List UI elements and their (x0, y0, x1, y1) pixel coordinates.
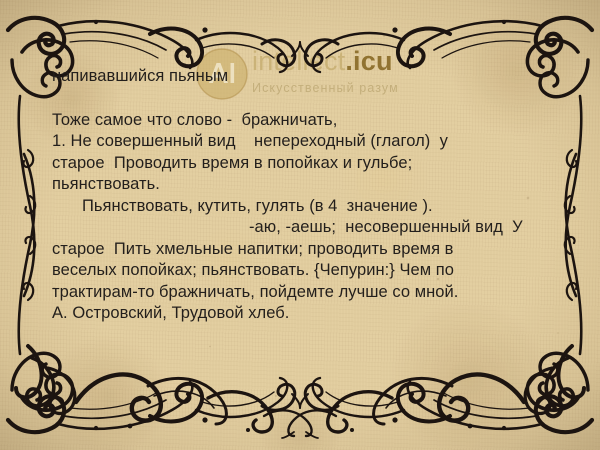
entry-line: трактирам-то бражничать, пойдемте лучше … (52, 282, 530, 304)
entry-line: А. Островский, Трудовой хлеб. (52, 303, 530, 325)
entry-line: -аю, -аешь; несовершенный вид У (52, 217, 530, 239)
parchment-page: intellect.icu Искусственный разум напива… (0, 0, 600, 450)
entry-line: Тоже самое что слово - бражничать, (52, 110, 530, 132)
entry-line: Пьянствовать, кутить, гулять (в 4 значен… (52, 196, 530, 218)
dictionary-entry: напивавшийся пьяным Тоже самое что слово… (52, 66, 530, 325)
entry-line: 1. Не совершенный вид непереходный (глаг… (52, 131, 530, 153)
bottom-border-flourish-right (282, 346, 584, 438)
entry-line: старое Проводить время в попойках и гуль… (52, 153, 530, 175)
entry-line: пьянствовать. (52, 174, 530, 196)
entry-headword: напивавшийся пьяным (52, 66, 530, 88)
entry-body: Тоже самое что слово - бражничать, 1. Не… (52, 110, 530, 325)
entry-line: веселых попойках; пьянствовать. {Чепурин… (52, 260, 530, 282)
entry-line: старое Пить хмельные напитки; проводить … (52, 239, 530, 261)
bottom-border-flourish-left (16, 346, 318, 438)
